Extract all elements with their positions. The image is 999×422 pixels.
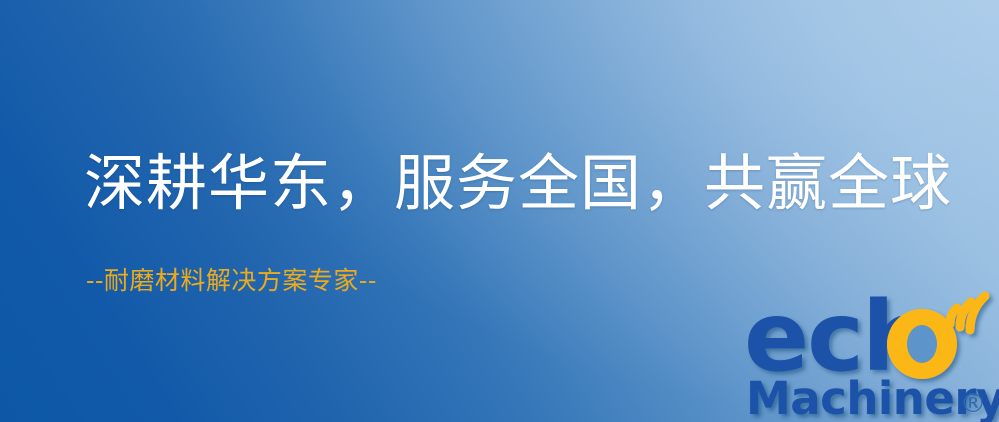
logo-artwork: ech Machinery ® (744, 288, 999, 422)
page-title: 深耕华东，服务全国，共赢全球 (84, 152, 952, 216)
banner-subtitle: --耐磨材料解决方案专家-- (86, 266, 377, 296)
hero-banner: 深耕华东，服务全国，共赢全球 --耐磨材料解决方案专家-- ech (0, 0, 999, 422)
echo-machinery-logo[interactable]: ech Machinery ® (744, 288, 999, 422)
echo-wave-icon (950, 296, 985, 330)
registered-trademark-icon: ® (960, 389, 986, 419)
